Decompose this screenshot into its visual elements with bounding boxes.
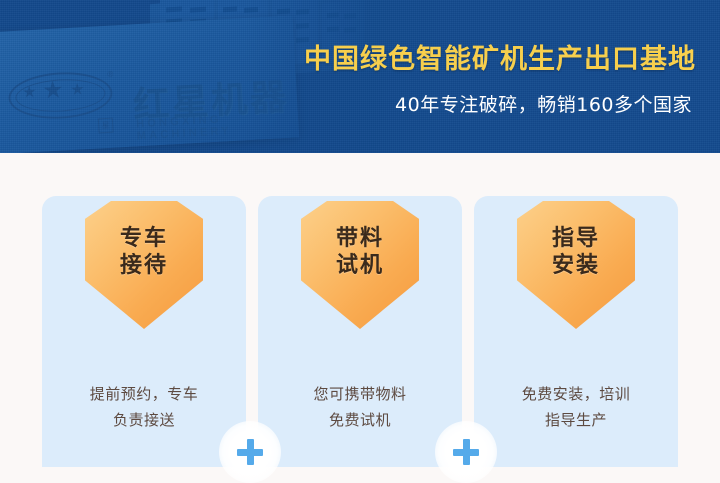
service-card[interactable]: 专车 接待 提前预约，专车 负责接送 (42, 196, 246, 467)
hero-banner: ★ ★ ★ ® 星 红星机器 HONGXING MACHINERY 中国绿色智能… (0, 0, 720, 153)
service-badge-shield: 带料 试机 (301, 201, 419, 329)
service-badge-line: 接待 (120, 252, 168, 279)
banner-text-group: 中国绿色智能矿机生产出口基地 40年专注破碎，畅销160多个国家 (304, 0, 696, 153)
service-description-line: 指导生产 (474, 407, 678, 433)
banner-title: 中国绿色智能矿机生产出口基地 (304, 37, 696, 76)
service-badge-line: 试机 (336, 252, 384, 279)
plus-connector (435, 421, 497, 483)
service-description: 免费安装，培训 指导生产 (474, 381, 678, 434)
service-description-line: 负责接送 (42, 407, 246, 433)
promo-page: ★ ★ ★ ® 星 红星机器 HONGXING MACHINERY 中国绿色智能… (0, 0, 720, 467)
service-description-line: 免费安装，培训 (474, 381, 678, 407)
service-badge-shield: 指导 安装 (517, 201, 635, 329)
service-card[interactable]: 带料 试机 您可携带物料 免费试机 (258, 196, 462, 467)
banner-subtitle: 40年专注破碎，畅销160多个国家 (395, 90, 696, 117)
service-badge-line: 专车 (120, 225, 168, 252)
plus-icon (453, 439, 479, 465)
service-cards-section: 专车 接待 提前预约，专车 负责接送 带料 试机 您可携带物料 免费试机 指导 … (0, 153, 720, 467)
service-description-line: 您可携带物料 (258, 381, 462, 407)
plus-icon (237, 439, 263, 465)
service-description: 您可携带物料 免费试机 (258, 381, 462, 434)
service-badge-line: 指导 (552, 225, 600, 252)
service-card[interactable]: 指导 安装 免费安装，培训 指导生产 (474, 196, 678, 467)
service-badge-shield: 专车 接待 (85, 201, 203, 329)
service-description-line: 提前预约，专车 (42, 381, 246, 407)
service-badge-line: 安装 (552, 252, 600, 279)
service-description: 提前预约，专车 负责接送 (42, 381, 246, 434)
service-description-line: 免费试机 (258, 407, 462, 433)
plus-connector (219, 421, 281, 483)
service-badge-line: 带料 (336, 225, 384, 252)
